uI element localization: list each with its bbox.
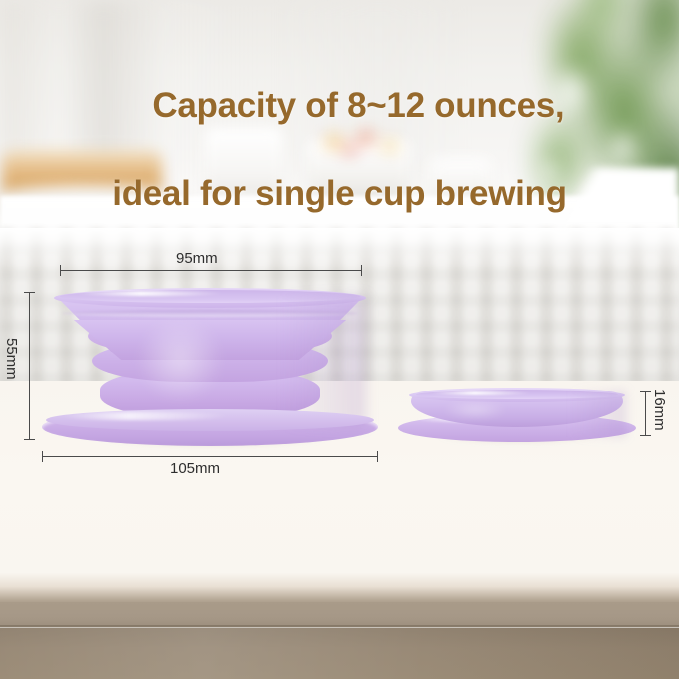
dimension-line-55mm bbox=[29, 292, 30, 440]
dimension-cap-top-16mm bbox=[640, 391, 651, 392]
dimension-label-55mm: 55mm bbox=[3, 338, 20, 380]
lid-rim-highlight bbox=[428, 391, 532, 395]
dimension-cap-left-95mm bbox=[60, 265, 61, 276]
dimension-cap-bottom-55mm bbox=[24, 439, 35, 440]
dimension-cap-top-55mm bbox=[24, 292, 35, 293]
dimension-line-16mm bbox=[645, 391, 646, 436]
dimension-line-105mm bbox=[42, 456, 378, 457]
lid-edge-shading bbox=[570, 391, 626, 437]
dripper-lid bbox=[0, 0, 679, 679]
dimension-line-95mm bbox=[60, 270, 362, 271]
dimension-label-105mm: 105mm bbox=[170, 460, 220, 477]
lid-highlight bbox=[430, 398, 520, 422]
product-image-scene: Capacity of 8~12 ounces, ideal for singl… bbox=[0, 0, 679, 679]
dimension-cap-right-95mm bbox=[361, 265, 362, 276]
dimension-cap-bottom-16mm bbox=[640, 435, 651, 436]
dimension-cap-right-105mm bbox=[377, 451, 378, 462]
dimension-label-16mm: 16mm bbox=[651, 389, 668, 431]
dimension-cap-left-105mm bbox=[42, 451, 43, 462]
dimension-label-95mm: 95mm bbox=[176, 250, 218, 267]
